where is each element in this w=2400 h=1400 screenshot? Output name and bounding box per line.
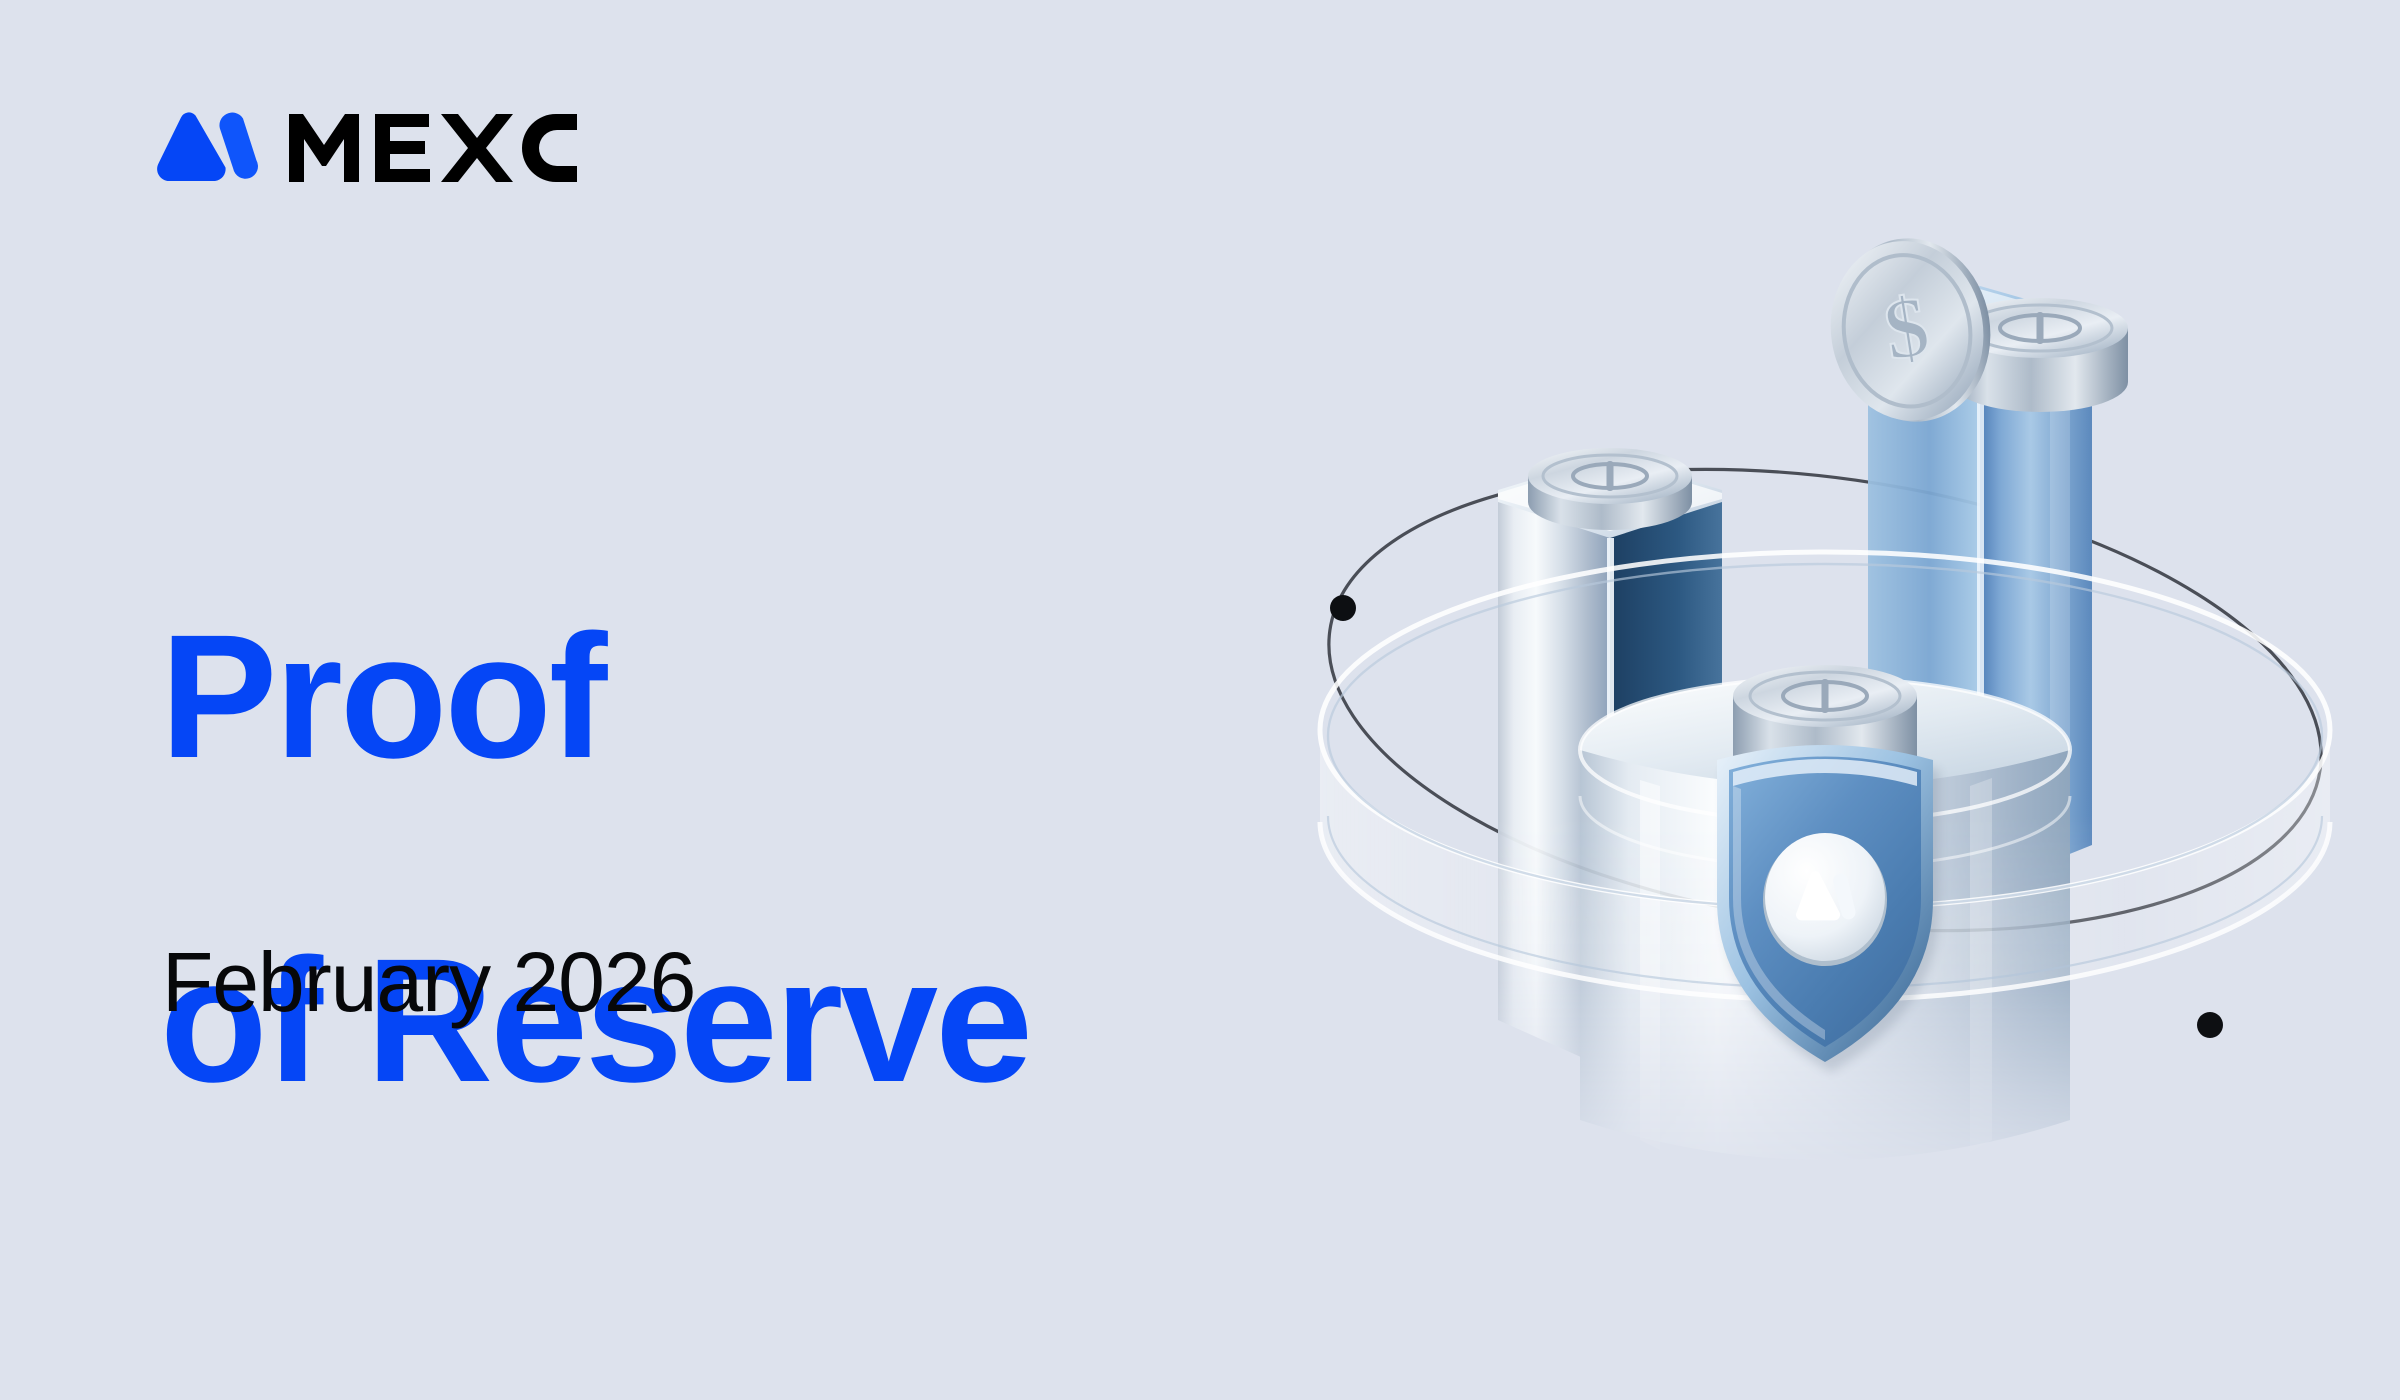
mexc-mountain-icon bbox=[155, 108, 259, 187]
orbit-dot-right bbox=[2197, 1012, 2223, 1038]
page-title-line-1: Proof bbox=[160, 617, 1030, 779]
proof-of-reserve-illustration: $ bbox=[1280, 190, 2340, 1200]
proof-of-reserve-banner: Proof of Reserve February 2026 bbox=[0, 0, 2400, 1400]
brand-wordmark bbox=[289, 112, 577, 184]
brand-logo[interactable] bbox=[155, 108, 577, 187]
page-title: Proof of Reserve bbox=[160, 455, 1030, 1265]
coin-stack-left bbox=[1528, 448, 1692, 530]
orbit-dot-left bbox=[1330, 595, 1356, 621]
page-subtitle: February 2026 bbox=[162, 940, 695, 1024]
